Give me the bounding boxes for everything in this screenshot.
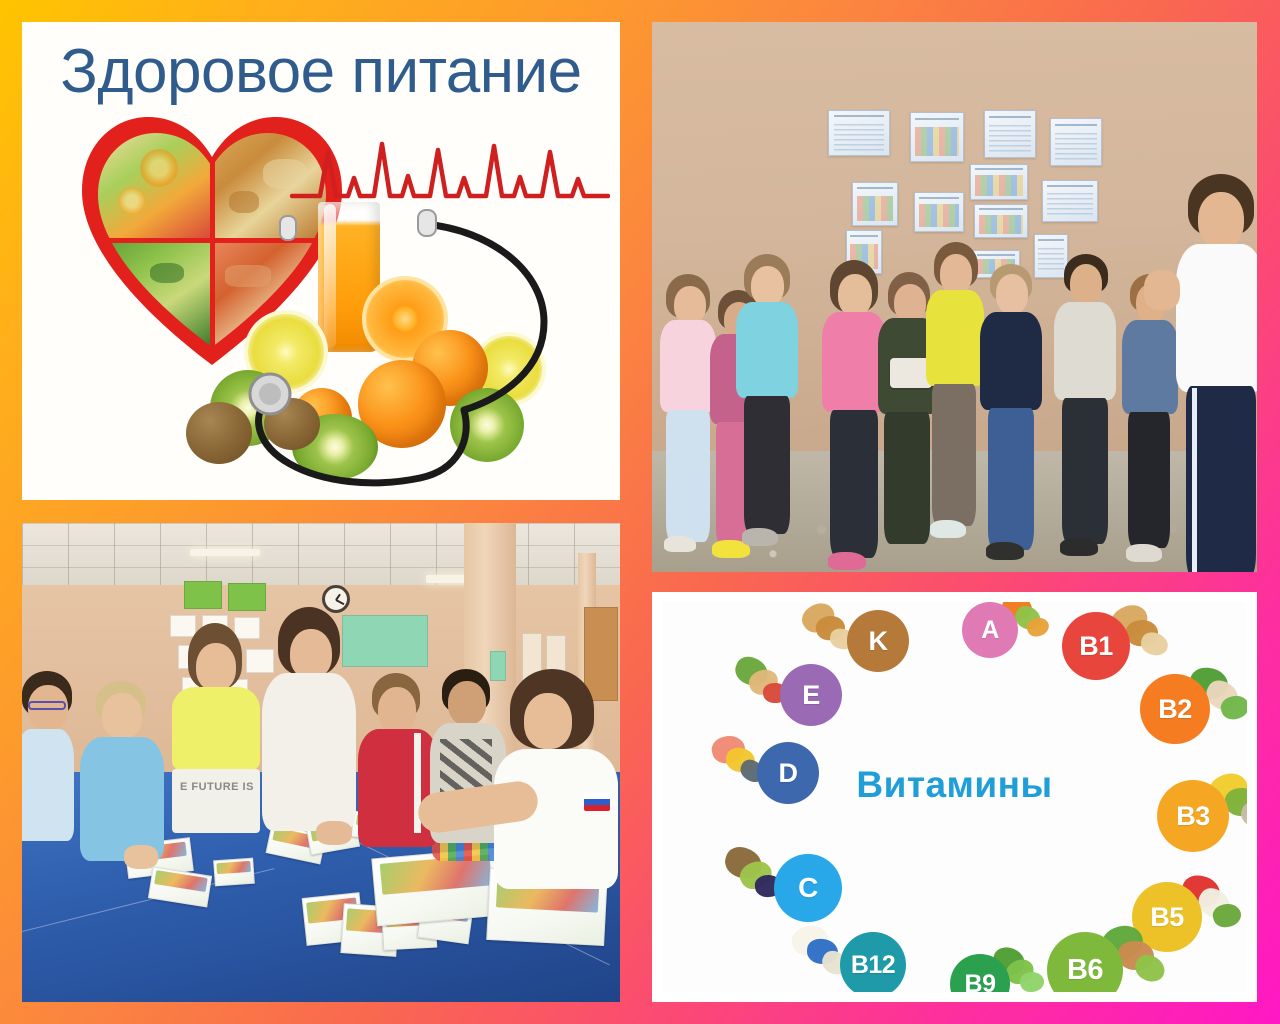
panel-vitamins-infographic: Витамины KAB1B2B3B5B6B9B12CDE [652,592,1257,1002]
vitamins-canvas: Витамины KAB1B2B3B5B6B9B12CDE [662,602,1247,992]
teacher-card-game [488,669,620,919]
child-3 [734,254,800,572]
vitamin-circle-e[interactable]: E [780,664,842,726]
wall-poster-6 [852,182,898,226]
vitamin-circle-k[interactable]: K [847,610,909,672]
wall-label-green-1 [184,581,222,609]
panel-card-game-photo: E FUTURE IS [22,523,620,1002]
child-7 [978,264,1044,572]
wall-poster-3 [984,110,1036,158]
child-red-jacket [358,673,440,873]
fruit-and-stethoscope-illustration [172,202,612,492]
wall-poster-5 [970,164,1028,200]
ceiling [22,523,620,585]
hand [124,845,158,869]
vitamin-circle-b1[interactable]: B1 [1062,612,1130,680]
hand [316,821,352,845]
shirt-lower [172,769,260,833]
vitamins-title: Витамины [856,764,1052,806]
eyeglasses [28,701,66,710]
teacher-hand [1144,270,1180,310]
child-yellow-shirt: E FUTURE IS [172,623,262,883]
vitamin-circle-c[interactable]: C [774,854,842,922]
child-blue-polo [80,681,166,901]
child-glasses [22,671,78,891]
panel-healthy-eating: Здоровое питание [22,22,620,500]
ceiling-tile-grid [22,523,620,585]
wall-poster-9 [1042,180,1098,222]
vitamin-circle-b3[interactable]: B3 [1157,780,1229,852]
flag-badge [584,793,610,811]
page-title: Здоровое питание [60,36,581,107]
child-6 [924,242,986,572]
child-white-sweater [262,607,358,877]
child-9 [1120,274,1180,572]
wall-label-green-2 [228,583,266,611]
stethoscope-icon [172,202,612,492]
photo-collage: Здоровое питание [0,0,1280,1024]
food-blob [1138,630,1170,659]
wall-poster-4 [1050,118,1102,166]
vitamin-circle-a[interactable]: A [962,602,1018,658]
teacher [1172,174,1257,572]
wall-poster-1 [828,110,890,156]
ceiling-lamp-1 [190,549,260,556]
wall-poster-8 [974,204,1028,238]
vitamin-circle-b12[interactable]: B12 [840,932,906,992]
tracksuit-stripe [1192,388,1197,572]
panel-lecture-photo [652,22,1257,572]
wall-poster-2 [910,112,964,162]
wall-poster-7 [914,192,964,232]
child-8 [1052,254,1118,572]
shirt-text: E FUTURE IS [180,781,260,793]
vitamin-circle-b2[interactable]: B2 [1140,674,1210,744]
vitamin-circle-d[interactable]: D [757,742,819,804]
